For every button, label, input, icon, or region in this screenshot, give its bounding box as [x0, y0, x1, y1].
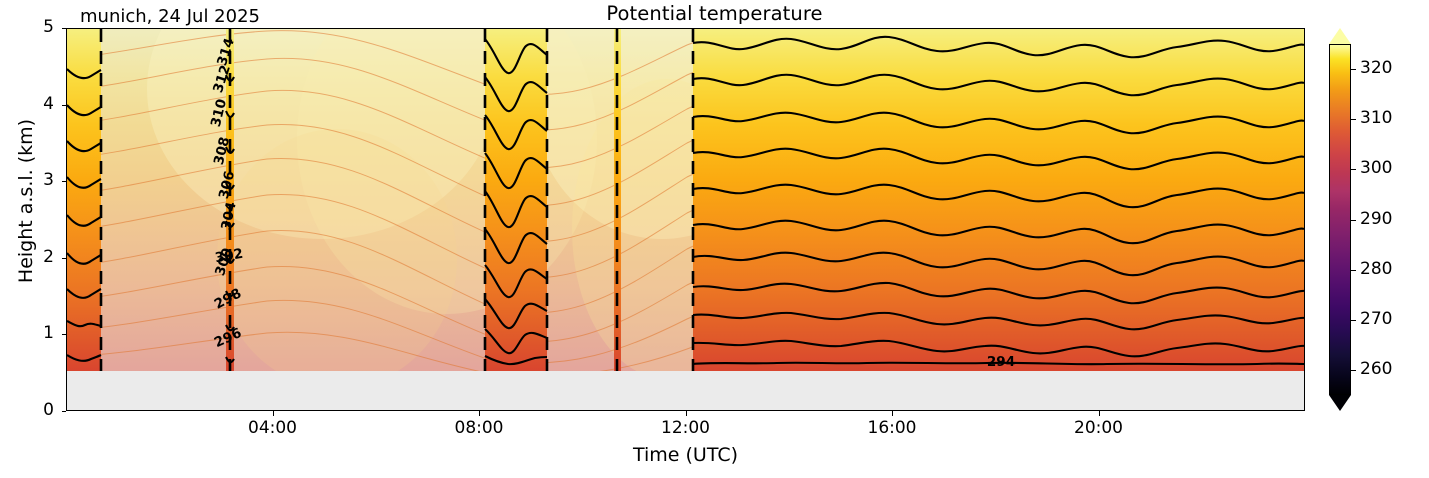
x-tick-label: 16:00 — [847, 418, 937, 438]
colorbar-tick-label: 320 — [1360, 58, 1392, 78]
colorbar-tick-mark — [1351, 119, 1356, 120]
colorbar-tick-label: 300 — [1360, 158, 1392, 178]
y-tick-label: 5 — [10, 17, 54, 37]
x-axis-label: Time (UTC) — [0, 444, 1371, 466]
colorbar-tick-mark — [1351, 220, 1356, 221]
y-tick-label: 1 — [10, 323, 54, 343]
y-tick-label: 2 — [10, 247, 54, 267]
x-tick-label: 04:00 — [228, 418, 318, 438]
station-date-subtitle: munich, 24 Jul 2025 — [80, 6, 260, 27]
y-tick-label: 3 — [10, 170, 54, 190]
colorbar-tick-mark — [1351, 320, 1356, 321]
x-tick-label: 20:00 — [1054, 418, 1144, 438]
colorbar-body — [1329, 44, 1351, 395]
colorbar-tick-mark — [1351, 69, 1356, 70]
y-tick-mark — [62, 334, 67, 335]
colorbar-extend-max-arrow — [1329, 28, 1351, 44]
colorbar-tick-mark — [1351, 169, 1356, 170]
colorbar-gradient — [1330, 45, 1350, 394]
colorbar — [1329, 28, 1351, 411]
x-tick-mark — [892, 411, 893, 416]
y-tick-mark — [62, 258, 67, 259]
colorbar-extend-min-arrow — [1329, 395, 1351, 411]
colorbar-tick-label: 310 — [1360, 108, 1392, 128]
y-tick-mark — [62, 411, 67, 412]
colorbar-tick-label: 280 — [1360, 259, 1392, 279]
colorbar-tick-label: 260 — [1360, 359, 1392, 379]
x-tick-label: 12:00 — [641, 418, 731, 438]
y-tick-mark — [62, 28, 67, 29]
y-tick-mark — [62, 105, 67, 106]
y-tick-label: 4 — [10, 94, 54, 114]
potential-temperature-figure: 314312310308306304302300298296294 Potent… — [0, 0, 1429, 478]
contour-label: 294 — [987, 354, 1015, 370]
y-tick-label: 0 — [10, 400, 54, 420]
x-tick-label: 08:00 — [434, 418, 524, 438]
colorbar-tick-mark — [1351, 370, 1356, 371]
contour-field-svg — [67, 29, 1304, 371]
colorbar-tick-label: 290 — [1360, 209, 1392, 229]
x-tick-mark — [1099, 411, 1100, 416]
plot-clip — [67, 29, 1304, 410]
colorbar-tick-label: 270 — [1360, 309, 1392, 329]
x-tick-mark — [479, 411, 480, 416]
x-tick-mark — [686, 411, 687, 416]
x-tick-mark — [273, 411, 274, 416]
plot-axes — [66, 28, 1305, 411]
temperature-field — [67, 29, 1304, 371]
y-tick-mark — [62, 181, 67, 182]
colorbar-tick-mark — [1351, 270, 1356, 271]
